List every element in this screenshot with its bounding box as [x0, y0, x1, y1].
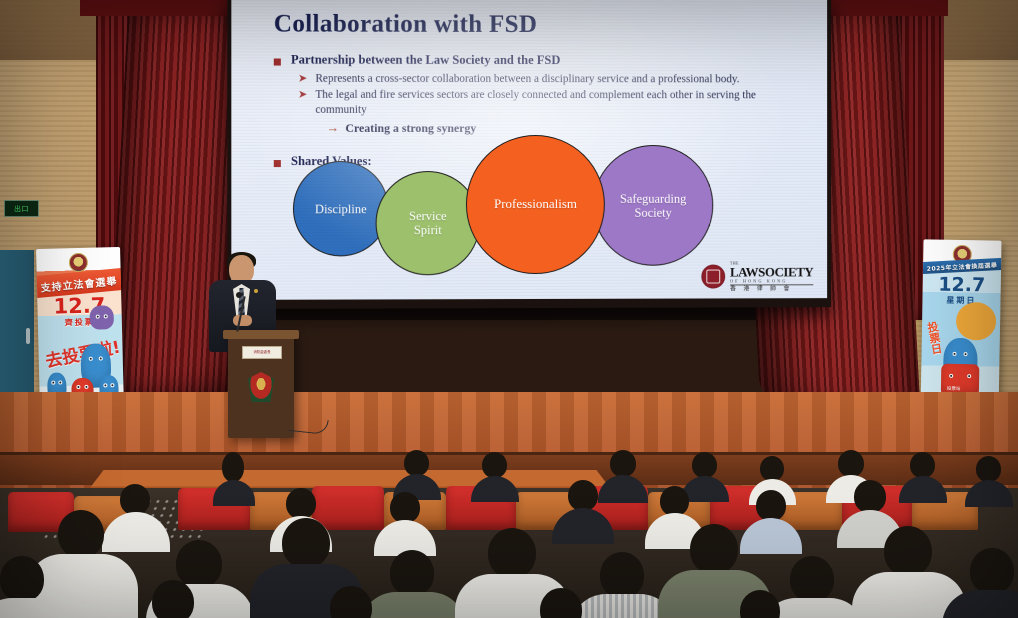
- right-arrow-icon: →: [326, 121, 339, 135]
- slide-title: Collaboration with FSD: [274, 10, 814, 39]
- speech-bubble-shape: [956, 302, 997, 341]
- podium: 消防處處長: [228, 330, 294, 438]
- exit-sign: 出口: [4, 200, 39, 217]
- presentation-slide: Collaboration with FSD Partnership betwe…: [231, 0, 827, 300]
- value-circle-discipline: Discipline: [293, 161, 389, 256]
- arrowhead-bullet-icon: ➤: [298, 74, 307, 85]
- logo-name: LAWSOCIETY: [730, 265, 813, 278]
- microphone-icon: [236, 292, 242, 298]
- bullet-text: Partnership between the Law Society and …: [291, 53, 560, 69]
- value-circle-safeguarding-society: SafeguardingSociety: [593, 145, 713, 266]
- value-circle-service-spirit: ServiceSpirit: [376, 171, 480, 275]
- slide-bullet-level3: → Creating a strong synergy: [326, 121, 813, 136]
- podium-top: [223, 330, 299, 339]
- lapel-pin-icon: [254, 289, 258, 293]
- projection-screen: Collaboration with FSD Partnership betwe…: [231, 0, 827, 300]
- slide-bullet-level2-a: ➤ Represents a cross-sector collaboratio…: [298, 72, 813, 87]
- door-handle-icon: [26, 328, 30, 344]
- slide-bullet-level2-b: ➤ The legal and fire services sectors ar…: [298, 88, 813, 117]
- banner-date: 12.7 星期日: [938, 276, 985, 306]
- logo-subtitle: OF HONG KONG: [730, 279, 813, 283]
- projection-screen-frame: Collaboration with FSD Partnership betwe…: [227, 0, 831, 309]
- bullet-text: Represents a cross-sector collaboration …: [315, 72, 739, 87]
- square-bullet-icon: [274, 59, 281, 66]
- auditorium-photo: 出口 Collaboration with FSD Partnership be…: [0, 0, 1018, 618]
- value-label: Professionalism: [494, 197, 577, 212]
- election-banner-left: 支持立法會選舉 12.7 齊投票 去投票啦!: [36, 247, 124, 409]
- value-label: SafeguardingSociety: [620, 191, 686, 219]
- seat: [312, 486, 384, 530]
- law-society-seal-icon: [701, 265, 725, 289]
- slide-bullet-level1: Partnership between the Law Society and …: [274, 52, 814, 68]
- bullet-text: The legal and fire services sectors are …: [315, 88, 782, 117]
- value-label: ServiceSpirit: [409, 209, 447, 237]
- election-banner-right: 2025年立法會換屆選舉 12.7 星期日 投票日 投票站: [920, 239, 1001, 415]
- fsd-emblem-icon: [248, 372, 274, 402]
- law-society-wordmark: THE LAWSOCIETY OF HONG KONG 香 港 律 師 會: [730, 261, 813, 292]
- law-society-logo: THE LAWSOCIETY OF HONG KONG 香 港 律 師 會: [701, 261, 813, 292]
- logo-chinese: 香 港 律 師 會: [730, 284, 813, 292]
- value-circle-professionalism: Professionalism: [466, 135, 605, 274]
- mascot-purple: [89, 305, 114, 330]
- arrowhead-bullet-icon: ➤: [298, 90, 307, 101]
- podium-nameplate: 消防處處長: [242, 346, 282, 359]
- speaker-hands: [233, 315, 252, 326]
- government-crest-icon: [69, 253, 88, 272]
- banner-call-to-action: 投票日: [923, 320, 944, 355]
- value-label: Discipline: [315, 202, 367, 216]
- banner-headline: 2025年立法會換屆選舉: [920, 258, 1001, 275]
- bullet-text: Creating a strong synergy: [345, 121, 476, 136]
